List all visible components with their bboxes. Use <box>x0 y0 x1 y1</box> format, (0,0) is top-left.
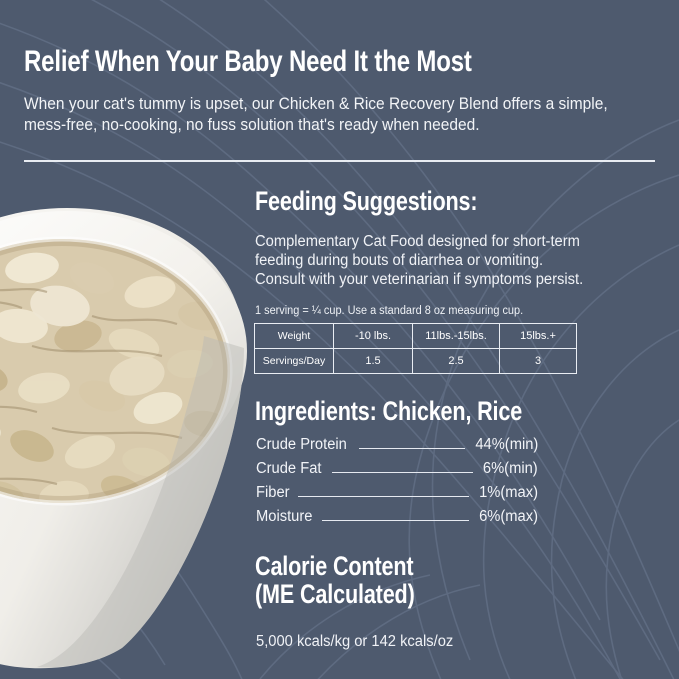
serving-size-note: 1 serving = ¼ cup. Use a standard 8 oz m… <box>255 304 523 318</box>
table-cell-weight-1: -10 lbs. <box>334 324 413 349</box>
table-cell-servings-2: 2.5 <box>413 349 500 374</box>
calorie-content-value: 5,000 kcals/kg or 142 kcals/oz <box>256 632 453 651</box>
table-cell-servings-1: 1.5 <box>334 349 413 374</box>
table-header-servings-per-day: Servings/Day <box>255 349 334 374</box>
feeding-body-line-1: Complementary Cat Food designed for shor… <box>255 232 645 251</box>
analysis-label-fiber: Fiber <box>256 484 290 502</box>
calorie-title-line-1: Calorie Content <box>255 552 415 580</box>
calorie-content-title: Calorie Content (ME Calculated) <box>255 552 415 608</box>
table-cell-servings-3: 3 <box>500 349 577 374</box>
analysis-row-crude-protein: Crude Protein 44%(min) <box>256 436 538 460</box>
analysis-row-moisture: Moisture 6%(max) <box>256 508 538 532</box>
guaranteed-analysis-list: Crude Protein 44%(min) Crude Fat 6%(min)… <box>256 436 538 532</box>
header-divider <box>24 160 655 162</box>
product-info-panel: Relief When Your Baby Need It the Most W… <box>0 0 679 679</box>
table-cell-weight-3: 15lbs.+ <box>500 324 577 349</box>
subhead-line-1: When your cat's tummy is upset, our Chic… <box>24 95 554 113</box>
analysis-value-crude-protein: 44%(min) <box>475 436 538 454</box>
product-photo-bowl-of-chicken-and-rice <box>0 196 272 676</box>
analysis-leader-line <box>332 472 473 473</box>
analysis-row-crude-fat: Crude Fat 6%(min) <box>256 460 538 484</box>
analysis-value-fiber: 1%(max) <box>479 484 538 502</box>
feeding-body-line-2: feeding during bouts of diarrhea or vomi… <box>255 251 645 270</box>
analysis-row-fiber: Fiber 1%(max) <box>256 484 538 508</box>
table-row-weight: Weight -10 lbs. 11lbs.-15lbs. 15lbs.+ <box>255 324 577 349</box>
analysis-leader-line <box>359 448 465 449</box>
analysis-value-crude-fat: 6%(min) <box>483 460 538 478</box>
analysis-leader-line <box>298 496 469 497</box>
feeding-body-line-3: Consult with your veterinarian if sympto… <box>255 270 645 289</box>
feeding-suggestions-body: Complementary Cat Food designed for shor… <box>255 232 645 289</box>
analysis-label-crude-protein: Crude Protein <box>256 436 347 454</box>
page-subhead: When your cat's tummy is upset, our Chic… <box>24 94 644 136</box>
feeding-suggestions-title: Feeding Suggestions: <box>255 186 477 216</box>
ingredients-title: Ingredients: Chicken, Rice <box>255 396 522 426</box>
table-cell-weight-2: 11lbs.-15lbs. <box>413 324 500 349</box>
analysis-label-crude-fat: Crude Fat <box>256 460 321 478</box>
calorie-title-line-2: (ME Calculated) <box>255 580 415 608</box>
page-headline: Relief When Your Baby Need It the Most <box>24 45 536 79</box>
analysis-value-moisture: 6%(max) <box>479 508 538 526</box>
table-header-weight: Weight <box>255 324 334 349</box>
analysis-leader-line <box>322 520 469 521</box>
analysis-label-moisture: Moisture <box>256 508 312 526</box>
table-row-servings: Servings/Day 1.5 2.5 3 <box>255 349 577 374</box>
feeding-chart-table: Weight -10 lbs. 11lbs.-15lbs. 15lbs.+ Se… <box>254 323 577 374</box>
